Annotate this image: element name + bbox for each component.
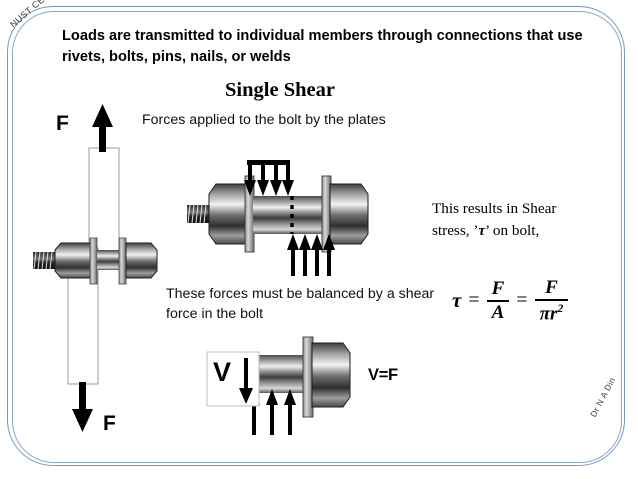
bottom-reaction-arrows-up [248, 389, 296, 435]
headline-text: Loads are transmitted to individual memb… [62, 26, 610, 67]
bolt-thread [33, 252, 55, 269]
v-equals-f-label: V=F [368, 366, 398, 385]
force-arrow-down [72, 382, 93, 432]
force-label-bottom: F [103, 412, 116, 436]
top-thread-ridges [188, 205, 206, 223]
author-watermark: Dr N A Din [588, 375, 617, 418]
left-washer [90, 238, 97, 284]
caption-forces-balanced: These forces must be balanced by a shear… [166, 284, 436, 324]
institution-watermark: NUST CEME [8, 0, 57, 30]
fraction-f-over-a: F A [487, 279, 510, 323]
caption-forces-applied: Forces applied to the bolt by the plates [142, 112, 386, 128]
lower-plate [68, 248, 98, 384]
shear-force-arrow-down [239, 358, 253, 404]
fraction-denominator-a: A [487, 302, 510, 323]
note-shear-stress: This results in Shear stress, ’τ’ on bol… [432, 198, 632, 241]
fraction2-numerator-f: F [540, 278, 563, 299]
shear-stress-formula: τ = F A = F πr2 [452, 278, 568, 324]
formula-equals-1: = [468, 289, 479, 312]
right-washer [119, 238, 126, 284]
distributed-load-arrows-up [287, 234, 335, 276]
note-line-2-post: ’ on bolt, [485, 222, 539, 239]
page-title: Single Shear [0, 79, 560, 102]
top-left-hex-nut [209, 184, 247, 244]
top-bolt-shank [253, 196, 323, 234]
distributed-load-arrows-down [244, 160, 294, 196]
force-arrow-up [92, 104, 113, 152]
shear-v-letter-overlay: V [213, 357, 231, 388]
fraction-numerator-f: F [487, 279, 510, 300]
top-bolt-diagram [187, 160, 368, 276]
pi-symbol: π [540, 303, 550, 324]
top-left-plate [245, 176, 254, 252]
thread-ridges [34, 252, 52, 269]
bottom-plate [303, 337, 313, 417]
left-bolt-assembly [33, 238, 157, 284]
upper-plate [89, 148, 119, 268]
left-hex-nut [55, 243, 92, 278]
top-bolt-thread [187, 205, 209, 223]
bottom-hex-head [312, 343, 350, 407]
slide-canvas: NUST CEME Dr N A Din Loads are transmitt… [0, 0, 638, 479]
formula-equals-2: = [516, 289, 527, 312]
fraction2-denominator: πr2 [535, 301, 569, 324]
radius-exponent: 2 [557, 301, 563, 315]
bottom-bolt-shank [247, 355, 307, 393]
top-right-hex-head [330, 184, 368, 244]
note-line-1: This results in Shear [432, 200, 556, 217]
left-single-shear-diagram [33, 104, 157, 432]
fraction-f-over-pi-r-squared: F πr2 [535, 278, 569, 324]
force-label-top: F [56, 112, 69, 136]
top-right-plate [322, 176, 331, 252]
right-hex-head [126, 243, 157, 278]
formula-tau: τ [452, 288, 461, 313]
bolt-shank [97, 250, 123, 270]
note-line-2-pre: stress, ’ [432, 222, 478, 239]
